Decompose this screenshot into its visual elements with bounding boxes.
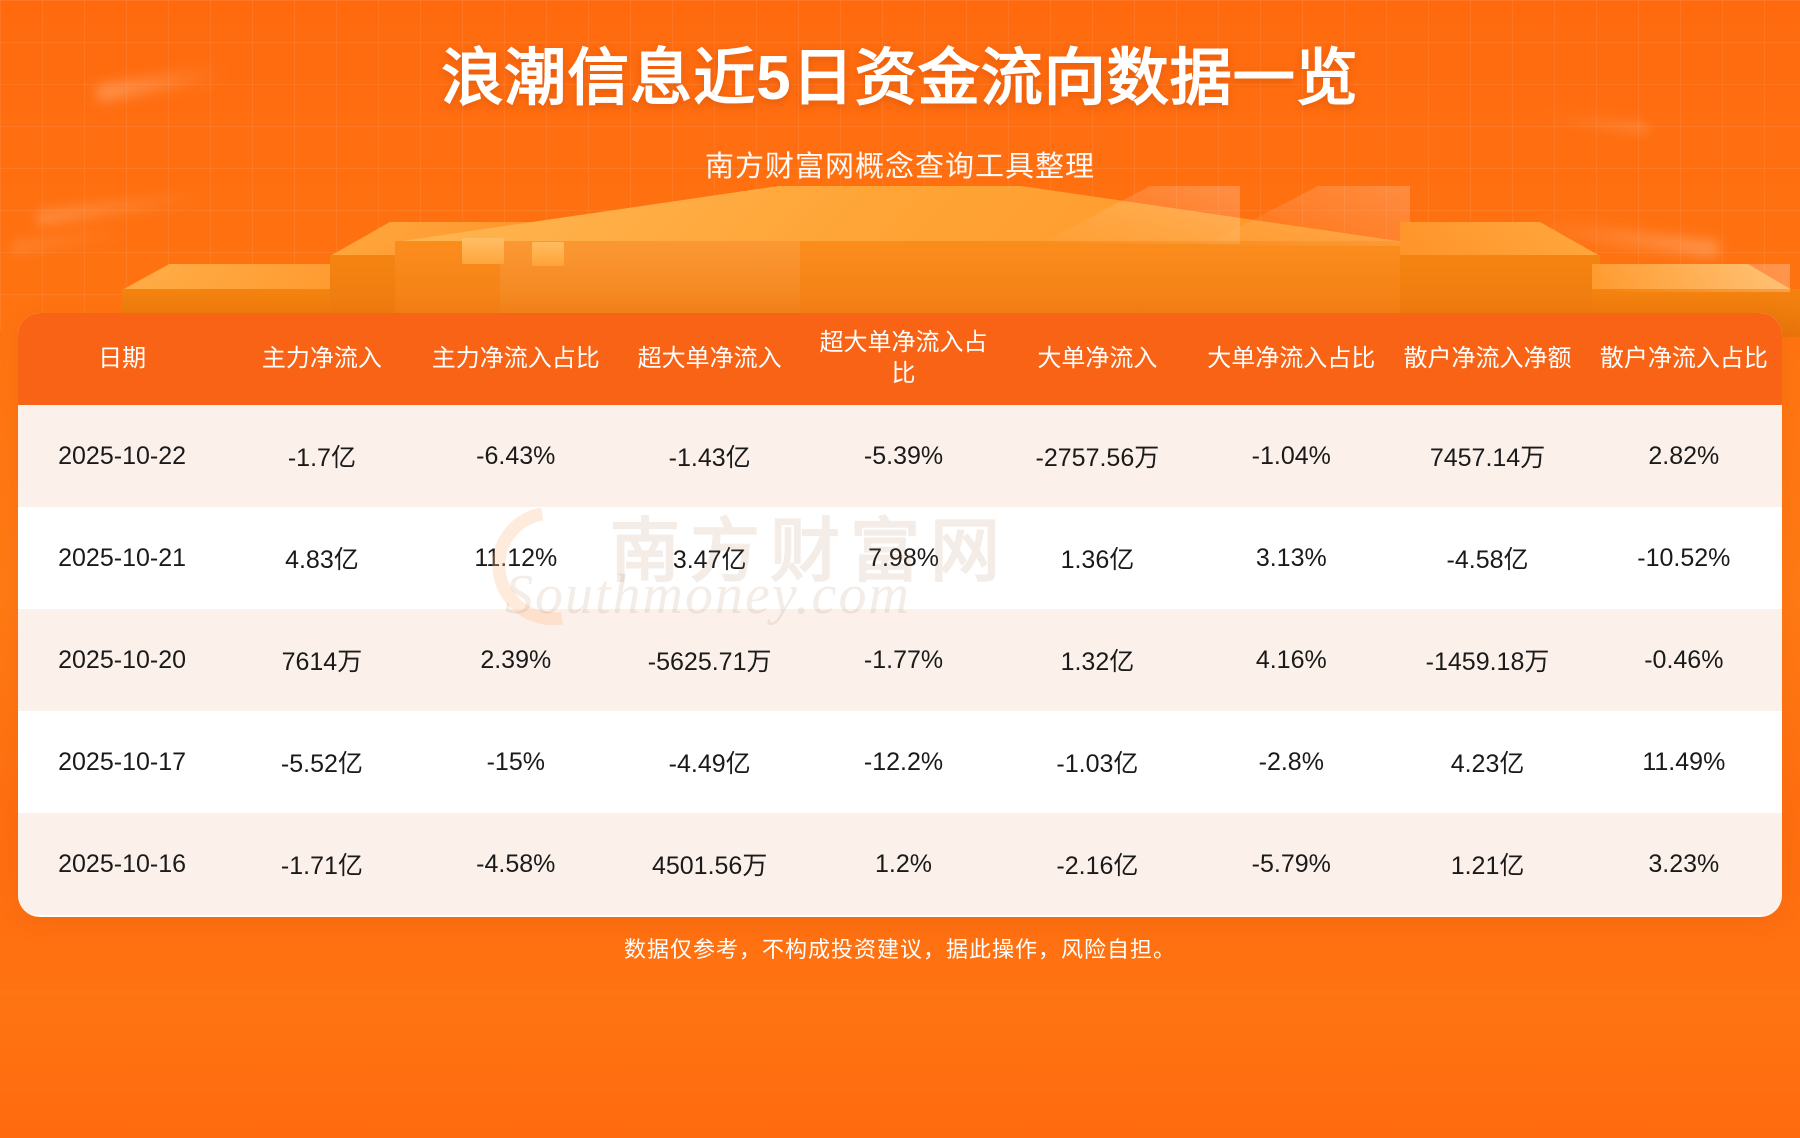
column-header-lg-net: 大单净流入 <box>1002 313 1194 405</box>
page-title: 浪潮信息近5日资金流向数据一览 <box>0 42 1800 115</box>
cell-lg-pct: 4.16% <box>1193 609 1389 711</box>
cell-main-net: -5.52亿 <box>226 711 418 813</box>
cell-xl-net: -5625.71万 <box>614 609 806 711</box>
cell-main-pct: 2.39% <box>418 609 614 711</box>
cell-lg-net: -2757.56万 <box>1002 405 1194 507</box>
page-subtitle: 南方财富网概念查询工具整理 <box>0 143 1800 185</box>
podium-block-far-right-top <box>1592 264 1792 290</box>
cell-retail-pct: 3.23% <box>1586 813 1782 915</box>
podium-block-center-top <box>395 186 1405 242</box>
cell-date: 2025-10-21 <box>18 507 226 609</box>
cell-xl-net: 3.47亿 <box>614 507 806 609</box>
cell-retail-net: 4.23亿 <box>1389 711 1585 813</box>
column-header-main-pct: 主力净流入占比 <box>418 313 614 405</box>
table-row: 2025-10-21 4.83亿 11.12% 3.47亿 7.98% 1.36… <box>18 507 1782 609</box>
cell-lg-net: 1.32亿 <box>1002 609 1194 711</box>
cell-main-net: 4.83亿 <box>226 507 418 609</box>
cell-xl-pct: -12.2% <box>805 711 1001 813</box>
light-streak-icon <box>1530 218 1721 257</box>
table-header: 日期 主力净流入 主力净流入占比 超大单净流入 超大单净流入占比 大单净流入 大… <box>18 313 1782 405</box>
podium-block-left-top <box>330 222 530 256</box>
podium-nub-left <box>462 238 504 264</box>
poster-canvas: 浪潮信息近5日资金流向数据一览 南方财富网概念查询工具整理 日期 主力净流入 主… <box>0 0 1800 1138</box>
column-header-main-net: 主力净流入 <box>226 313 418 405</box>
podium-bevel-right <box>1040 186 1240 244</box>
podium-block-far-left-top <box>122 264 337 290</box>
table-row: 2025-10-16 -1.71亿 -4.58% 4501.56万 1.2% -… <box>18 813 1782 915</box>
fund-flow-table: 日期 主力净流入 主力净流入占比 超大单净流入 超大单净流入占比 大单净流入 大… <box>18 313 1782 915</box>
disclaimer-text: 数据仅参考，不构成投资建议，据此操作，风险自担。 <box>0 932 1800 964</box>
light-streak-icon <box>10 227 130 254</box>
cell-lg-pct: -2.8% <box>1193 711 1389 813</box>
data-table-card: 日期 主力净流入 主力净流入占比 超大单净流入 超大单净流入占比 大单净流入 大… <box>18 313 1782 917</box>
cell-xl-net: -4.49亿 <box>614 711 806 813</box>
column-header-retail-pct: 散户净流入占比 <box>1586 313 1782 405</box>
bottom-background-fill <box>0 990 1800 1138</box>
podium-block-right-top <box>1400 222 1600 256</box>
cell-main-net: -1.71亿 <box>226 813 418 915</box>
table-row: 2025-10-17 -5.52亿 -15% -4.49亿 -12.2% -1.… <box>18 711 1782 813</box>
cell-retail-net: -1459.18万 <box>1389 609 1585 711</box>
cell-retail-net: 7457.14万 <box>1389 405 1585 507</box>
light-streak-icon <box>35 188 205 226</box>
column-header-xl-net: 超大单净流入 <box>614 313 806 405</box>
cell-xl-pct: -1.77% <box>805 609 1001 711</box>
cell-date: 2025-10-20 <box>18 609 226 711</box>
podium-nub-right <box>532 242 564 266</box>
podium-sheen-far-right <box>1600 264 1790 292</box>
cell-date: 2025-10-22 <box>18 405 226 507</box>
cell-xl-pct: 1.2% <box>805 813 1001 915</box>
cell-retail-pct: -10.52% <box>1586 507 1782 609</box>
table-header-row: 日期 主力净流入 主力净流入占比 超大单净流入 超大单净流入占比 大单净流入 大… <box>18 313 1782 405</box>
cell-xl-pct: 7.98% <box>805 507 1001 609</box>
cell-retail-pct: 11.49% <box>1586 711 1782 813</box>
podium-sheen-right <box>1180 186 1410 246</box>
cell-xl-pct: -5.39% <box>805 405 1001 507</box>
cell-retail-net: 1.21亿 <box>1389 813 1585 915</box>
cell-date: 2025-10-17 <box>18 711 226 813</box>
cell-lg-net: 1.36亿 <box>1002 507 1194 609</box>
cell-main-net: -1.7亿 <box>226 405 418 507</box>
cell-main-pct: -15% <box>418 711 614 813</box>
cell-date: 2025-10-16 <box>18 813 226 915</box>
table-row: 2025-10-22 -1.7亿 -6.43% -1.43亿 -5.39% -2… <box>18 405 1782 507</box>
table-row: 2025-10-20 7614万 2.39% -5625.71万 -1.77% … <box>18 609 1782 711</box>
poster-header: 浪潮信息近5日资金流向数据一览 南方财富网概念查询工具整理 <box>0 0 1800 185</box>
cell-lg-pct: 3.13% <box>1193 507 1389 609</box>
cell-lg-net: -1.03亿 <box>1002 711 1194 813</box>
cell-main-pct: 11.12% <box>418 507 614 609</box>
cell-xl-net: 4501.56万 <box>614 813 806 915</box>
cell-lg-pct: -1.04% <box>1193 405 1389 507</box>
cell-main-pct: -4.58% <box>418 813 614 915</box>
table-body: 2025-10-22 -1.7亿 -6.43% -1.43亿 -5.39% -2… <box>18 405 1782 915</box>
column-header-lg-pct: 大单净流入占比 <box>1193 313 1389 405</box>
cell-main-net: 7614万 <box>226 609 418 711</box>
column-header-date: 日期 <box>18 313 226 405</box>
cell-retail-pct: -0.46% <box>1586 609 1782 711</box>
column-header-xl-pct: 超大单净流入占比 <box>805 313 1001 405</box>
cell-lg-net: -2.16亿 <box>1002 813 1194 915</box>
cell-lg-pct: -5.79% <box>1193 813 1389 915</box>
column-header-retail-net: 散户净流入净额 <box>1389 313 1585 405</box>
cell-retail-net: -4.58亿 <box>1389 507 1585 609</box>
cell-xl-net: -1.43亿 <box>614 405 806 507</box>
cell-main-pct: -6.43% <box>418 405 614 507</box>
cell-retail-pct: 2.82% <box>1586 405 1782 507</box>
